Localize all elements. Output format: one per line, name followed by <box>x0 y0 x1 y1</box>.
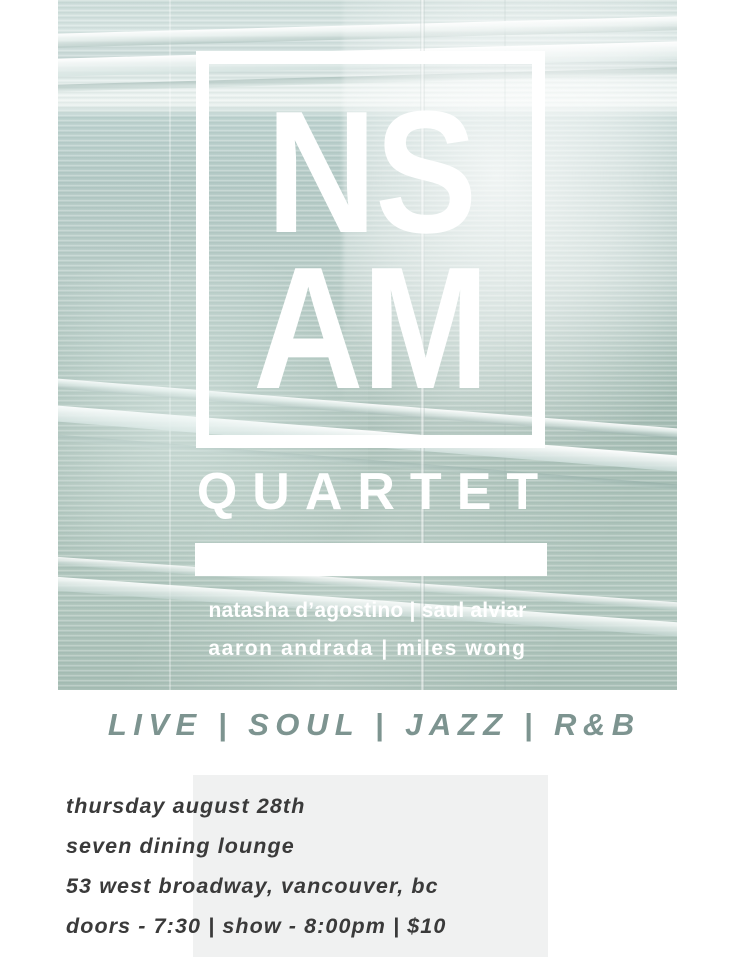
band-members-line-2: aaron andrada | miles wong <box>58 638 677 659</box>
detail-times: doors - 7:30 | show - 8:00pm | $10 <box>66 906 686 946</box>
logo-frame <box>196 51 545 448</box>
event-details: thursday august 28th seven dining lounge… <box>66 786 686 946</box>
detail-venue: seven dining lounge <box>66 826 686 866</box>
band-members-line-1: natasha d’agostino | saul alviar <box>58 600 677 621</box>
detail-address: 53 west broadway, vancouver, bc <box>66 866 686 906</box>
wordmark-quartet: QUARTET <box>58 466 677 518</box>
band-members: natasha d’agostino | saul alviar aaron a… <box>58 600 677 659</box>
event-poster: NS AM QUARTET natasha d’agostino | saul … <box>0 0 742 960</box>
wordmark-underline-bar <box>195 543 547 576</box>
genre-line: LIVE | SOUL | JAZZ | R&B <box>0 707 742 743</box>
detail-date: thursday august 28th <box>66 786 686 826</box>
